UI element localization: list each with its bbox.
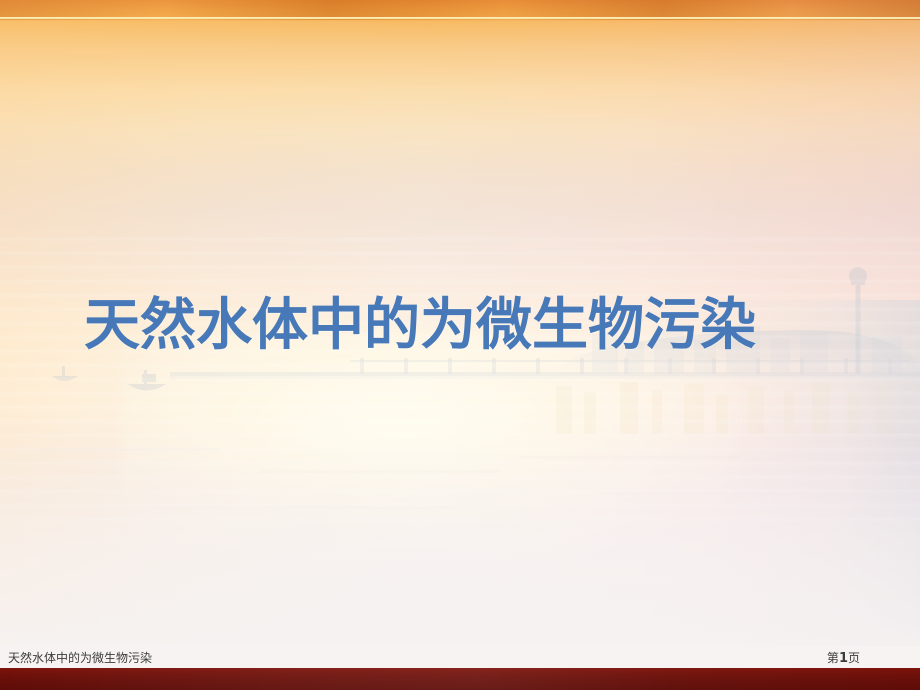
- title-placeholder[interactable]: 天然水体中的为微生物污染: [60, 288, 860, 364]
- page-number-value: 1: [839, 651, 848, 666]
- bottom-accent-band: [0, 668, 920, 690]
- footer-title-text: 天然水体中的为微生物污染: [8, 651, 152, 665]
- slide-title: 天然水体中的为微生物污染: [60, 291, 756, 361]
- page-number-suffix: 页: [848, 651, 860, 665]
- bottom-fade-overlay: [0, 438, 920, 668]
- page-number-prefix: 第: [827, 651, 839, 665]
- presentation-slide: 天然水体中的为微生物污染 天然水体中的为微生物污染 第1页: [0, 0, 920, 690]
- bottom-band-sheen: [0, 668, 920, 690]
- top-divider-line: [0, 17, 920, 19]
- page-number: 第1页: [827, 651, 860, 666]
